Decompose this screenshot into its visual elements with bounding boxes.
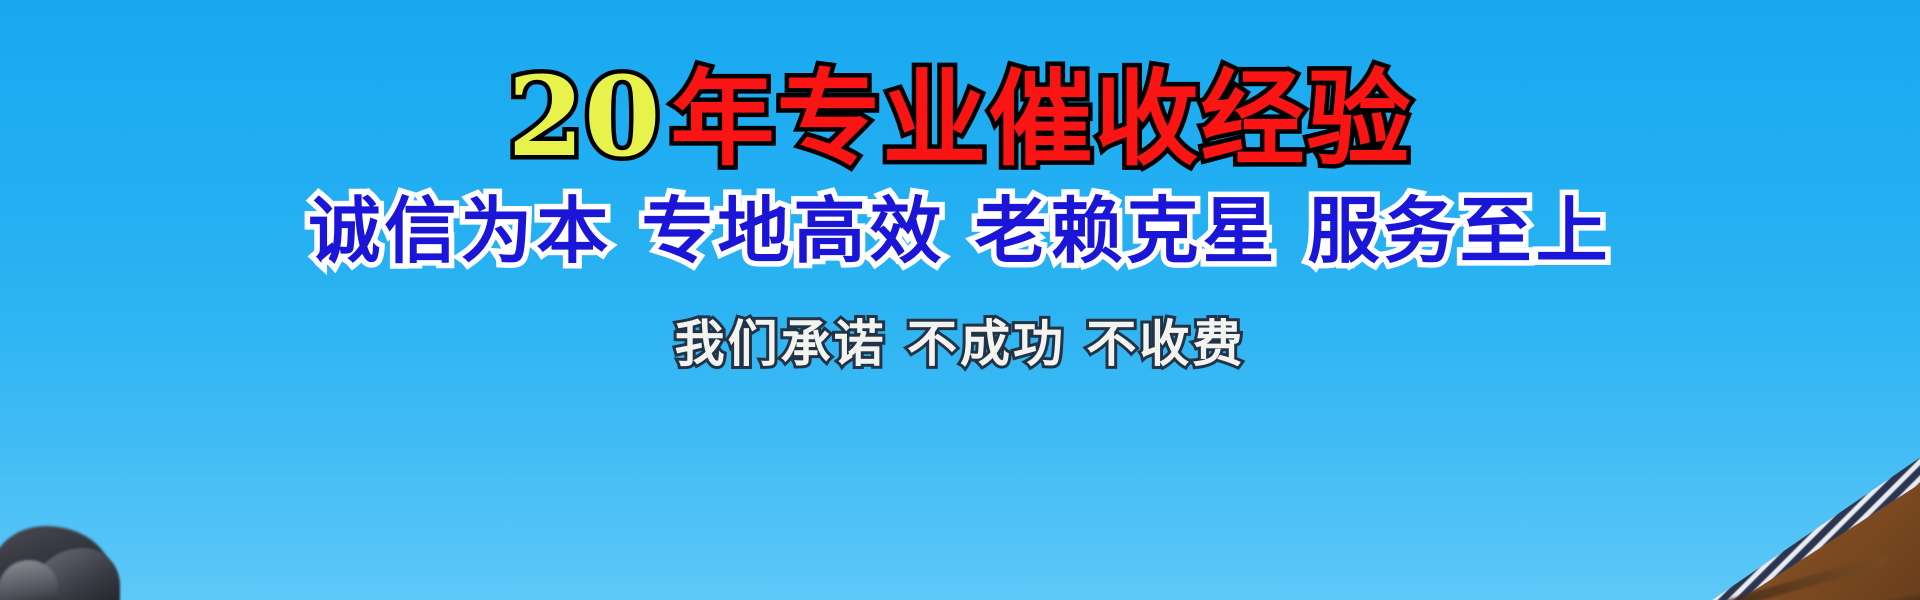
promise-text: 我们承诺 不成功 不收费 [675, 304, 1246, 376]
banner-text-stack: 20 年专业催收经验 诚信为本 专地高效 老赖克星 服务至上 我们承诺 不成功 … [0, 0, 1920, 600]
headline-number: 20 [507, 62, 660, 172]
headline-text: 年专业催收经验 [671, 67, 1413, 171]
tagline: 诚信为本 专地高效 老赖克星 服务至上 [308, 194, 1611, 270]
headline: 20 年专业催收经验 [507, 62, 1412, 172]
promo-banner: 20 年专业催收经验 诚信为本 专地高效 老赖克星 服务至上 我们承诺 不成功 … [0, 0, 1920, 600]
